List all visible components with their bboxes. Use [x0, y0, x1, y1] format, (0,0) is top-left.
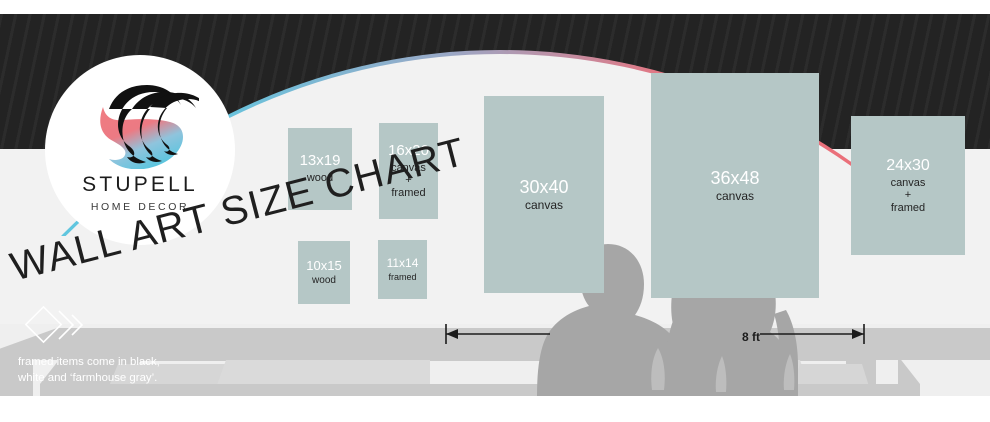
frame-kind-label: framed: [388, 272, 416, 282]
diamond-chevrons-icon: [22, 303, 90, 347]
footnote-text: framed items come in black, white and ‘f…: [18, 355, 160, 386]
frame-swatch: 10x15wood: [298, 241, 350, 304]
bottom-white-margin: [0, 396, 990, 422]
frame-size-label: 30x40: [519, 177, 568, 197]
stupell-swoosh-logo-icon: [81, 81, 199, 169]
sofa-width-dimension-line: [430, 320, 880, 350]
brand-name: STUPELL: [82, 173, 198, 197]
frame-kind-label: canvas+framed: [891, 177, 926, 214]
frame-kind-label: wood: [312, 275, 336, 286]
frame-swatch: 11x14framed: [378, 240, 427, 299]
frame-size-label: 11x14: [387, 257, 419, 270]
frame-size-label: 24x30: [886, 157, 930, 175]
frame-kind-label: canvas: [716, 190, 754, 203]
frame-swatch: 36x48canvas: [651, 73, 819, 298]
frame-kind-label: canvas: [525, 199, 563, 212]
frame-size-label: 10x15: [306, 259, 341, 274]
dimension-label: 8 ft: [742, 330, 760, 344]
frame-swatch: 24x30canvas+framed: [851, 116, 965, 255]
top-white-margin: [0, 0, 990, 14]
footnote-line-2: white and ‘farmhouse gray’.: [18, 371, 160, 387]
frame-swatch: 30x40canvas: [484, 96, 604, 293]
wall-art-size-chart-infographic: 8 ft 13x19wood16x20canvas+framed30x40can…: [0, 0, 990, 422]
footnote-line-1: framed items come in black,: [18, 355, 160, 371]
frame-size-label: 36x48: [710, 168, 759, 188]
